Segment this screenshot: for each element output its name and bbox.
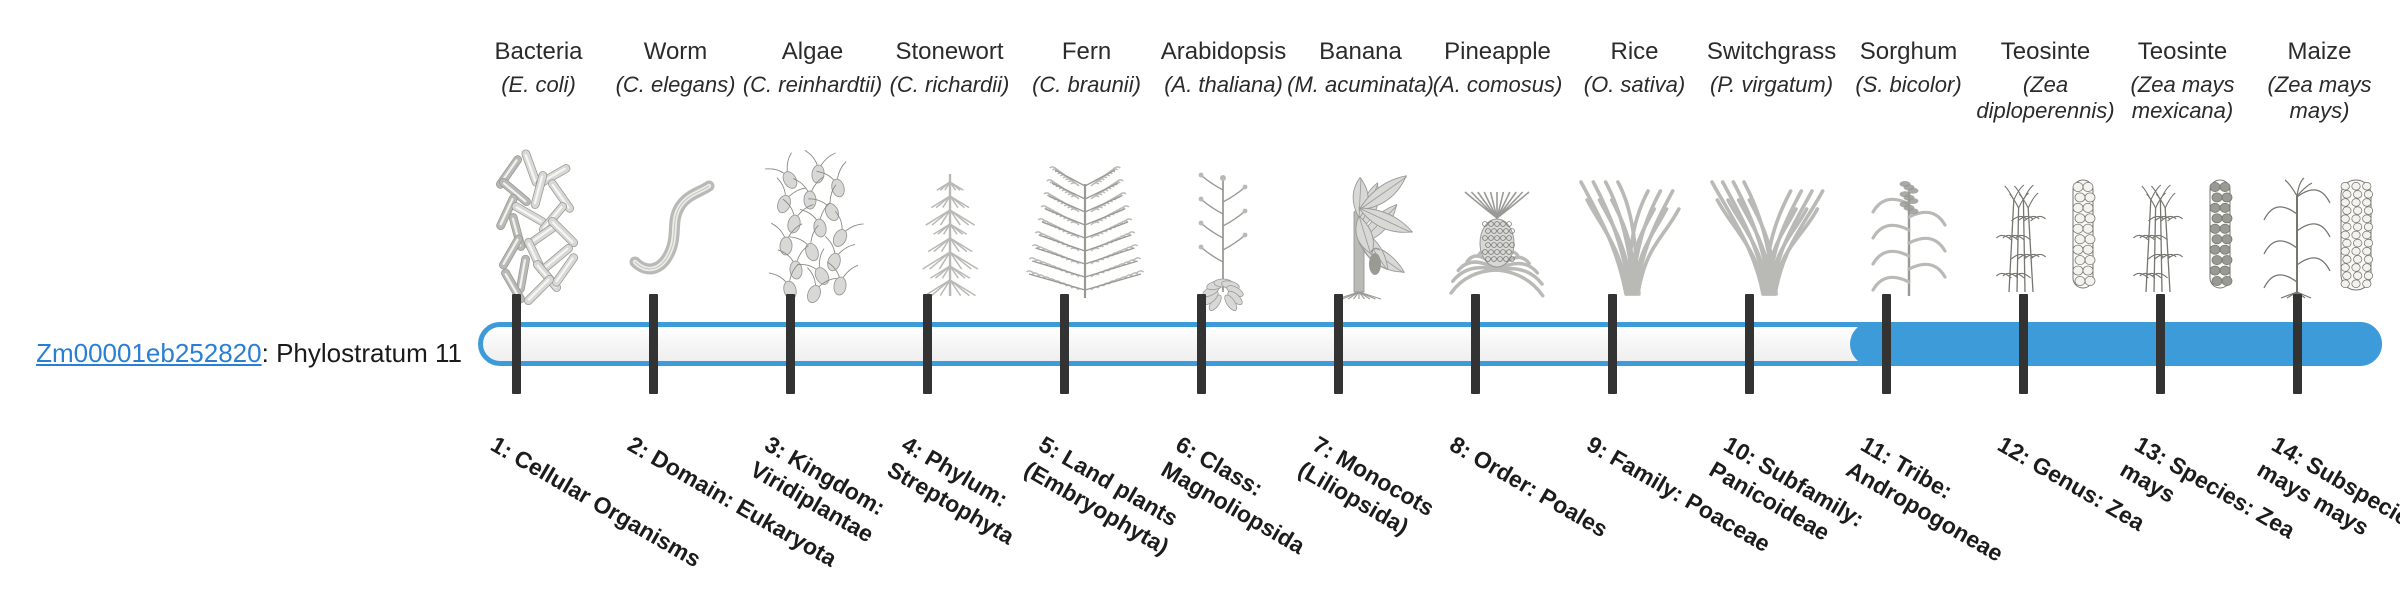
banana-plant-icon [1292, 166, 1429, 300]
axis-tick [2293, 294, 2302, 394]
species-scientific-name: (P. virgatum) [1697, 72, 1846, 98]
species-scientific-name: (Zea diploperennis) [1971, 72, 2120, 124]
sorghum-plant-icon [1840, 166, 1977, 300]
maize-plant-ear-icon [2251, 166, 2388, 300]
species-common-name: Worm [607, 38, 744, 66]
axis-tick [1197, 294, 1206, 394]
axis-tick [2156, 294, 2165, 394]
phylostratum-track-fill [1850, 322, 2382, 366]
axis-tick [1471, 294, 1480, 394]
species-common-name: Arabidopsis [1155, 38, 1292, 66]
species-scientific-name: (E. coli) [464, 72, 613, 98]
species-common-name: Maize [2251, 38, 2388, 66]
species-scientific-name: (C. reinhardtii) [738, 72, 887, 98]
species-common-name: Pineapple [1429, 38, 1566, 66]
axis-tick [1882, 294, 1891, 394]
species-scientific-name: (Zea mays mexicana) [2108, 72, 2257, 124]
teosinte-plant-ear-icon [2114, 166, 2251, 300]
species-scientific-name: (Zea mays mays) [2245, 72, 2394, 124]
bacteria-rods-icon [470, 166, 607, 300]
stonewort-alga-icon [881, 166, 1018, 300]
gene-label-separator: : [262, 338, 276, 368]
axis-tick [1334, 294, 1343, 394]
axis-tick [1745, 294, 1754, 394]
species-common-name: Rice [1566, 38, 1703, 66]
species-common-name: Sorghum [1840, 38, 1977, 66]
switchgrass-plant-icon [1703, 166, 1840, 300]
axis-tick [2019, 294, 2028, 394]
species-common-name: Teosinte [2114, 38, 2251, 66]
nematode-worm-icon [607, 166, 744, 300]
phylostratum-text: Phylostratum 11 [276, 338, 462, 368]
species-common-name: Stonewort [881, 38, 1018, 66]
algae-cells-icon [744, 166, 881, 300]
phylostratum-axis [470, 322, 2390, 366]
phylostratigraphy-figure: Zm00001eb252820: Phylostratum 11 Bacteri… [0, 0, 2400, 580]
species-common-name: Banana [1292, 38, 1429, 66]
species-scientific-name: (O. sativa) [1560, 72, 1709, 98]
teosinte-plant-ear-icon [1977, 166, 2114, 300]
species-scientific-name: (C. richardii) [875, 72, 1024, 98]
arabidopsis-plant-icon [1155, 166, 1292, 300]
species-scientific-name: (A. thaliana) [1149, 72, 1298, 98]
species-scientific-name: (C. braunii) [1012, 72, 1161, 98]
species-common-name: Algae [744, 38, 881, 66]
species-common-name: Bacteria [470, 38, 607, 66]
species-scientific-name: (M. acuminata) [1286, 72, 1435, 98]
species-common-name: Switchgrass [1703, 38, 1840, 66]
gene-phylostratum-label: Zm00001eb252820: Phylostratum 11 [0, 338, 462, 368]
axis-tick [786, 294, 795, 394]
axis-tick [1060, 294, 1069, 394]
axis-tick [512, 294, 521, 394]
axis-tick [649, 294, 658, 394]
rice-plant-icon [1566, 166, 1703, 300]
species-common-name: Teosinte [1977, 38, 2114, 66]
pineapple-plant-icon [1429, 166, 1566, 300]
species-scientific-name: (C. elegans) [601, 72, 750, 98]
species-scientific-name: (S. bicolor) [1834, 72, 1983, 98]
species-scientific-name: (A. comosus) [1423, 72, 1572, 98]
axis-tick [1608, 294, 1617, 394]
axis-tick [923, 294, 932, 394]
species-common-name: Fern [1018, 38, 1155, 66]
fern-frond-icon [1018, 166, 1155, 300]
gene-id-link[interactable]: Zm00001eb252820 [36, 338, 262, 368]
